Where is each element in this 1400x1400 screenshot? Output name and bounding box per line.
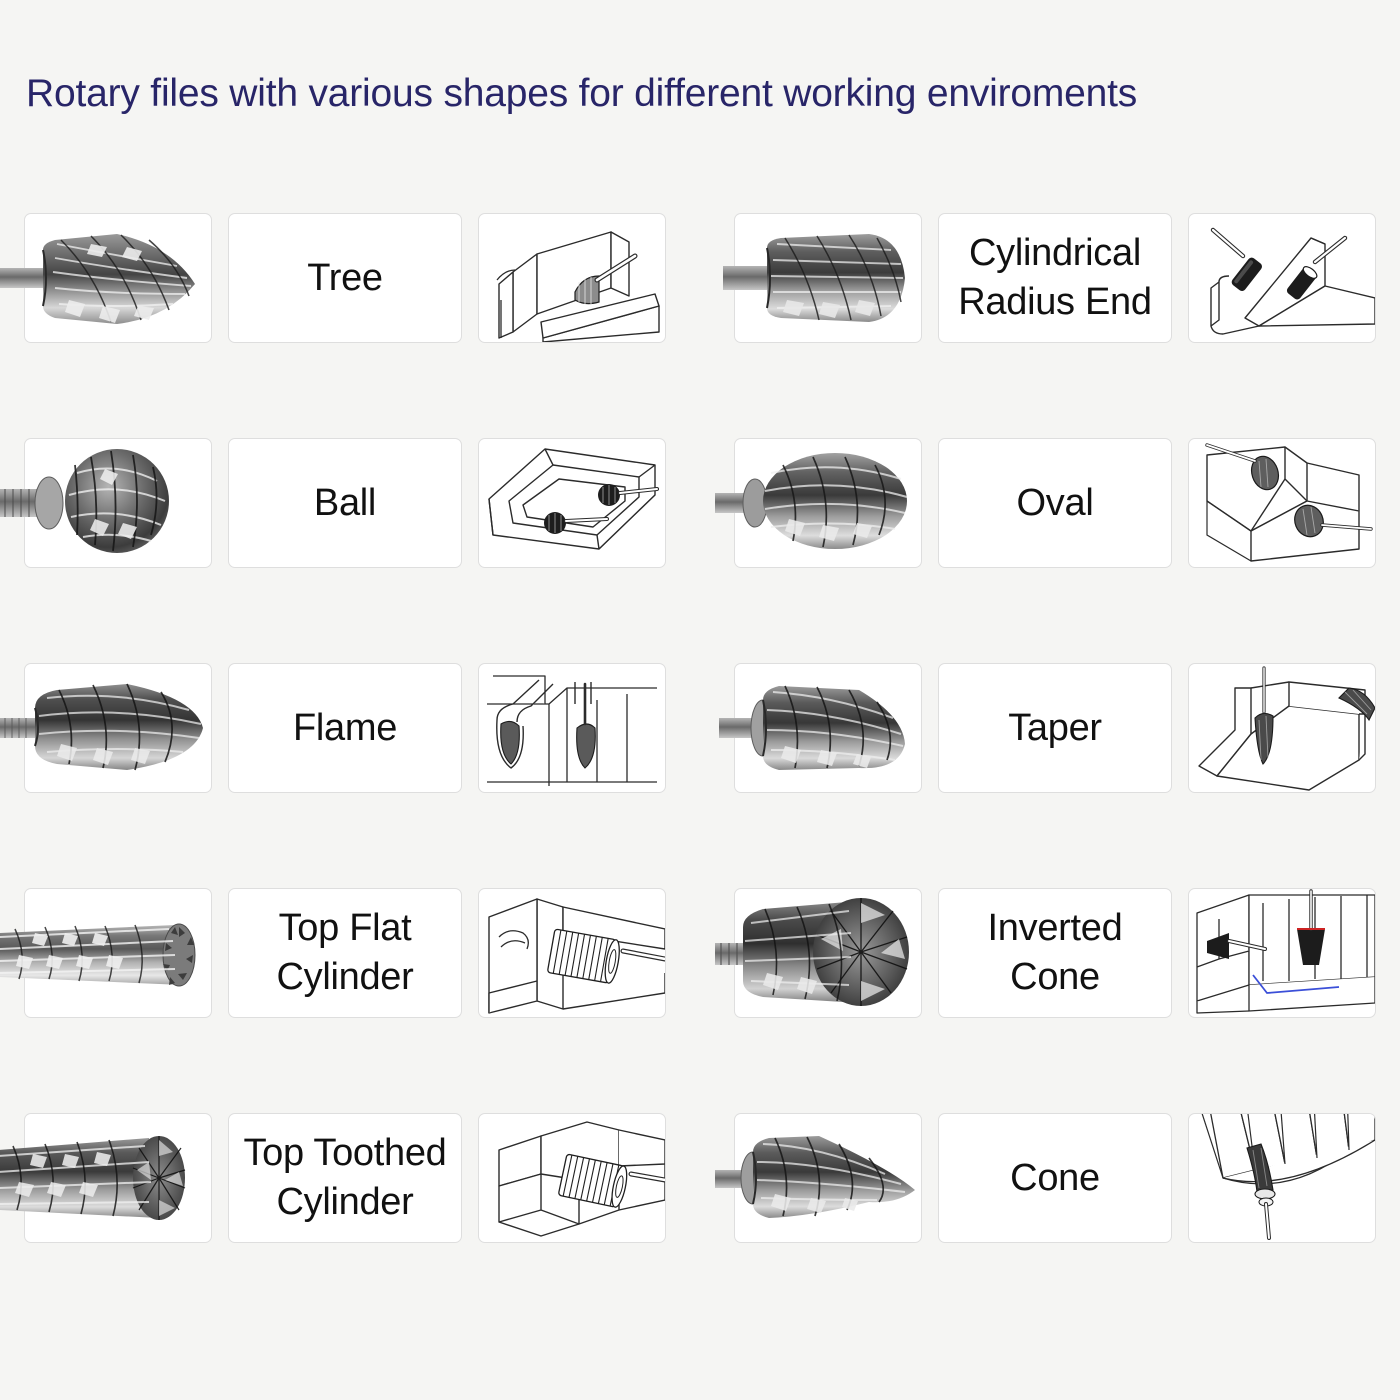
product-photo-card-cylindrical-radius-end [734,213,922,343]
application-diagram-card-cone [1188,1113,1376,1243]
top-flat-cylinder-application-diagram [479,889,665,1017]
shape-entry-tree: Tree [0,208,680,433]
shape-label-card-cone: Cone [938,1113,1172,1243]
shape-entry-taper: Taper [710,658,1390,883]
shape-entry-top-flat-cylinder: Top Flat Cylinder [0,883,680,1108]
tree-burr-photo [0,214,239,342]
shape-grid: Tree [0,208,1400,1333]
shape-label-text: Inverted Cone [988,904,1123,1001]
product-photo-card-flame [24,663,212,793]
shape-entry-cylindrical-radius-end: Cylindrical Radius End [710,208,1390,433]
flame-burr-photo [0,664,239,792]
shape-label-card-oval: Oval [938,438,1172,568]
shape-label-card-flame: Flame [228,663,462,793]
grid-row: Ball [0,433,1400,658]
top-toothed-cylinder-application-diagram [479,1114,665,1242]
shape-label-card-tree: Tree [228,213,462,343]
page-title: Rotary files with various shapes for dif… [26,72,1137,116]
shape-label-text: Oval [1017,479,1094,528]
product-photo-card-cone [734,1113,922,1243]
product-photo-card-top-toothed-cylinder [24,1113,212,1243]
shape-label-text: Taper [1008,704,1102,753]
application-diagram-card-taper [1188,663,1376,793]
shape-label-text: Flame [293,704,397,753]
application-diagram-card-top-toothed-cylinder [478,1113,666,1243]
shape-label-text: Ball [314,479,376,528]
ball-burr-application-diagram [479,439,665,567]
shape-label-text: Tree [307,254,383,303]
shape-label-card-ball: Ball [228,438,462,568]
shape-entry-cone: Cone [710,1108,1390,1333]
oval-burr-application-diagram [1189,439,1375,567]
cylindrical-radius-end-burr-photo [709,214,949,342]
shape-label-card-inverted-cone: Inverted Cone [938,888,1172,1018]
ball-burr-photo [0,439,239,567]
product-photo-card-taper [734,663,922,793]
shape-entry-oval: Oval [710,433,1390,658]
shape-entry-inverted-cone: Inverted Cone [710,883,1390,1108]
tree-burr-application-diagram [479,214,665,342]
cone-burr-application-diagram [1189,1114,1375,1242]
application-diagram-card-inverted-cone [1188,888,1376,1018]
shape-label-card-top-toothed-cylinder: Top Toothed Cylinder [228,1113,462,1243]
cylindrical-radius-end-application-diagram [1189,214,1375,342]
cone-burr-photo [709,1114,949,1242]
shape-label-text: Top Toothed Cylinder [243,1129,446,1226]
shape-entry-flame: Flame [0,658,680,883]
application-diagram-card-cylindrical-radius-end [1188,213,1376,343]
application-diagram-card-oval [1188,438,1376,568]
oval-burr-photo [709,439,949,567]
product-photo-card-inverted-cone [734,888,922,1018]
shape-label-card-taper: Taper [938,663,1172,793]
application-diagram-card-flame [478,663,666,793]
application-diagram-card-ball [478,438,666,568]
product-photo-card-top-flat-cylinder [24,888,212,1018]
grid-row: Top Flat Cylinder [0,883,1400,1108]
top-flat-cylinder-burr-photo [0,889,239,1017]
shape-label-text: Top Flat Cylinder [277,904,414,1001]
application-diagram-card-top-flat-cylinder [478,888,666,1018]
flame-burr-application-diagram [479,664,665,792]
grid-row: Flame [0,658,1400,883]
product-photo-card-tree [24,213,212,343]
taper-burr-application-diagram [1189,664,1375,792]
shape-label-text: Cone [1010,1154,1100,1203]
shape-label-text: Cylindrical Radius End [958,229,1151,326]
shape-entry-top-toothed-cylinder: Top Toothed Cylinder [0,1108,680,1333]
taper-burr-photo [709,664,949,792]
shape-label-card-cylindrical-radius-end: Cylindrical Radius End [938,213,1172,343]
shape-label-card-top-flat-cylinder: Top Flat Cylinder [228,888,462,1018]
grid-row: Tree [0,208,1400,433]
inverted-cone-application-diagram [1189,889,1375,1017]
grid-row: Top Toothed Cylinder [0,1108,1400,1333]
inverted-cone-burr-photo [709,889,949,1017]
product-photo-card-oval [734,438,922,568]
top-toothed-cylinder-burr-photo [0,1114,239,1242]
shape-entry-ball: Ball [0,433,680,658]
application-diagram-card-tree [478,213,666,343]
product-photo-card-ball [24,438,212,568]
